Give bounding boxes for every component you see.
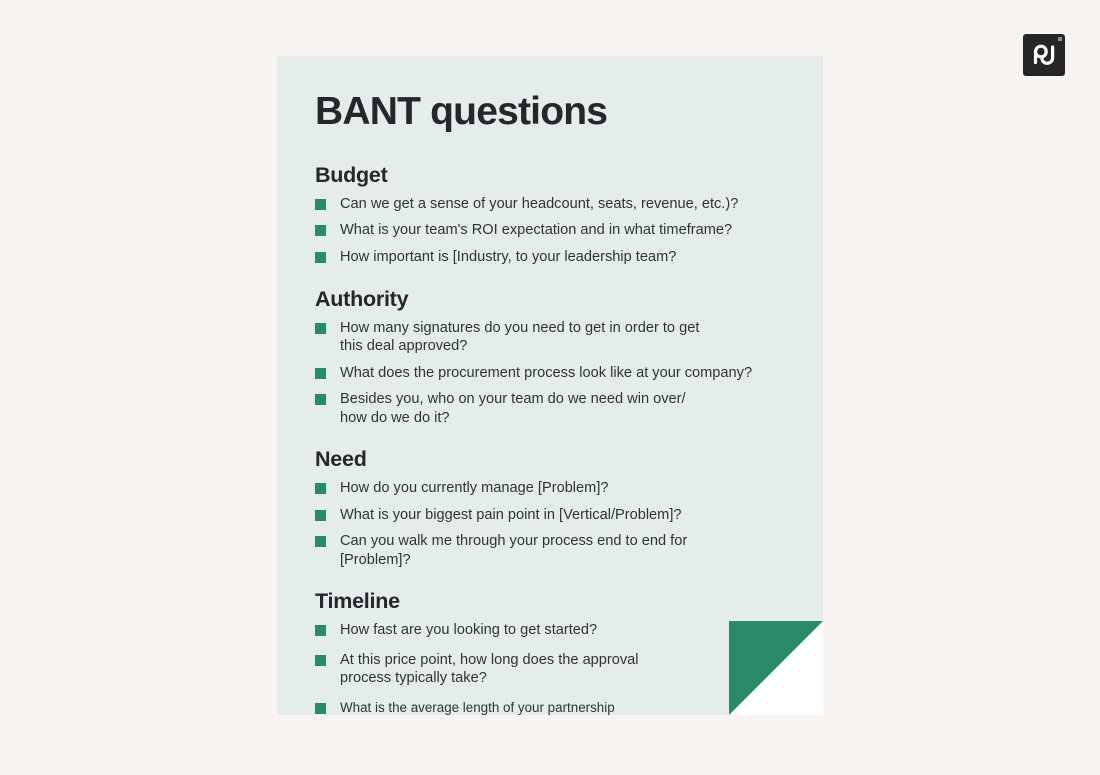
question-text: What is your team's ROI expectation and … [340,221,732,240]
bullet-square-icon [315,199,326,210]
question-list-authority: How many signatures do you need to get i… [315,319,801,428]
list-item: Besides you, who on your team do we need… [315,390,801,427]
bullet-square-icon [315,225,326,236]
question-list-timeline: How fast are you looking to get started?… [315,621,801,715]
question-text: What is the average length of your partn… [340,699,630,715]
bullet-square-icon [315,323,326,334]
section-timeline: Timeline How fast are you looking to get… [315,589,801,715]
question-text: Besides you, who on your team do we need… [340,390,705,427]
list-item: What is your biggest pain point in [Vert… [315,506,801,525]
section-heading-budget: Budget [315,163,801,188]
list-item: Can you walk me through your process end… [315,532,801,569]
section-authority: Authority How many signatures do you nee… [315,287,801,428]
section-budget: Budget Can we get a sense of your headco… [315,163,801,267]
question-text: What does the procurement process look l… [340,364,752,383]
trademark-icon [1058,37,1062,41]
section-heading-authority: Authority [315,287,801,312]
list-item: Can we get a sense of your headcount, se… [315,195,801,214]
list-item: What is the average length of your partn… [315,699,801,715]
bullet-square-icon [315,655,326,666]
list-item: At this price point, how long does the a… [315,651,801,688]
bullet-square-icon [315,394,326,405]
list-item: How many signatures do you need to get i… [315,319,801,356]
bullet-square-icon [315,252,326,263]
question-text: How many signatures do you need to get i… [340,319,715,356]
list-item: How fast are you looking to get started? [315,621,801,640]
page-title: BANT questions [315,92,801,133]
section-need: Need How do you currently manage [Proble… [315,447,801,569]
bullet-square-icon [315,703,326,714]
bullet-square-icon [315,483,326,494]
section-heading-need: Need [315,447,801,472]
bullet-square-icon [315,625,326,636]
question-text: How important is [Industry, to your lead… [340,248,676,267]
question-text: At this price point, how long does the a… [340,651,660,688]
list-item: How important is [Industry, to your lead… [315,248,801,267]
question-list-need: How do you currently manage [Problem]? W… [315,479,801,569]
list-item: How do you currently manage [Problem]? [315,479,801,498]
list-item: What is your team's ROI expectation and … [315,221,801,240]
list-item: What does the procurement process look l… [315,364,801,383]
section-heading-timeline: Timeline [315,589,801,614]
question-text: Can we get a sense of your headcount, se… [340,195,738,214]
pandadoc-logo[interactable] [1023,34,1065,76]
bullet-square-icon [315,368,326,379]
bullet-square-icon [315,536,326,547]
question-text: How fast are you looking to get started? [340,621,597,640]
question-list-budget: Can we get a sense of your headcount, se… [315,195,801,267]
question-text: How do you currently manage [Problem]? [340,479,609,498]
question-text: What is your biggest pain point in [Vert… [340,506,682,525]
question-text: Can you walk me through your process end… [340,532,703,569]
bant-questions-card: BANT questions Budget Can we get a sense… [277,56,823,715]
bullet-square-icon [315,510,326,521]
